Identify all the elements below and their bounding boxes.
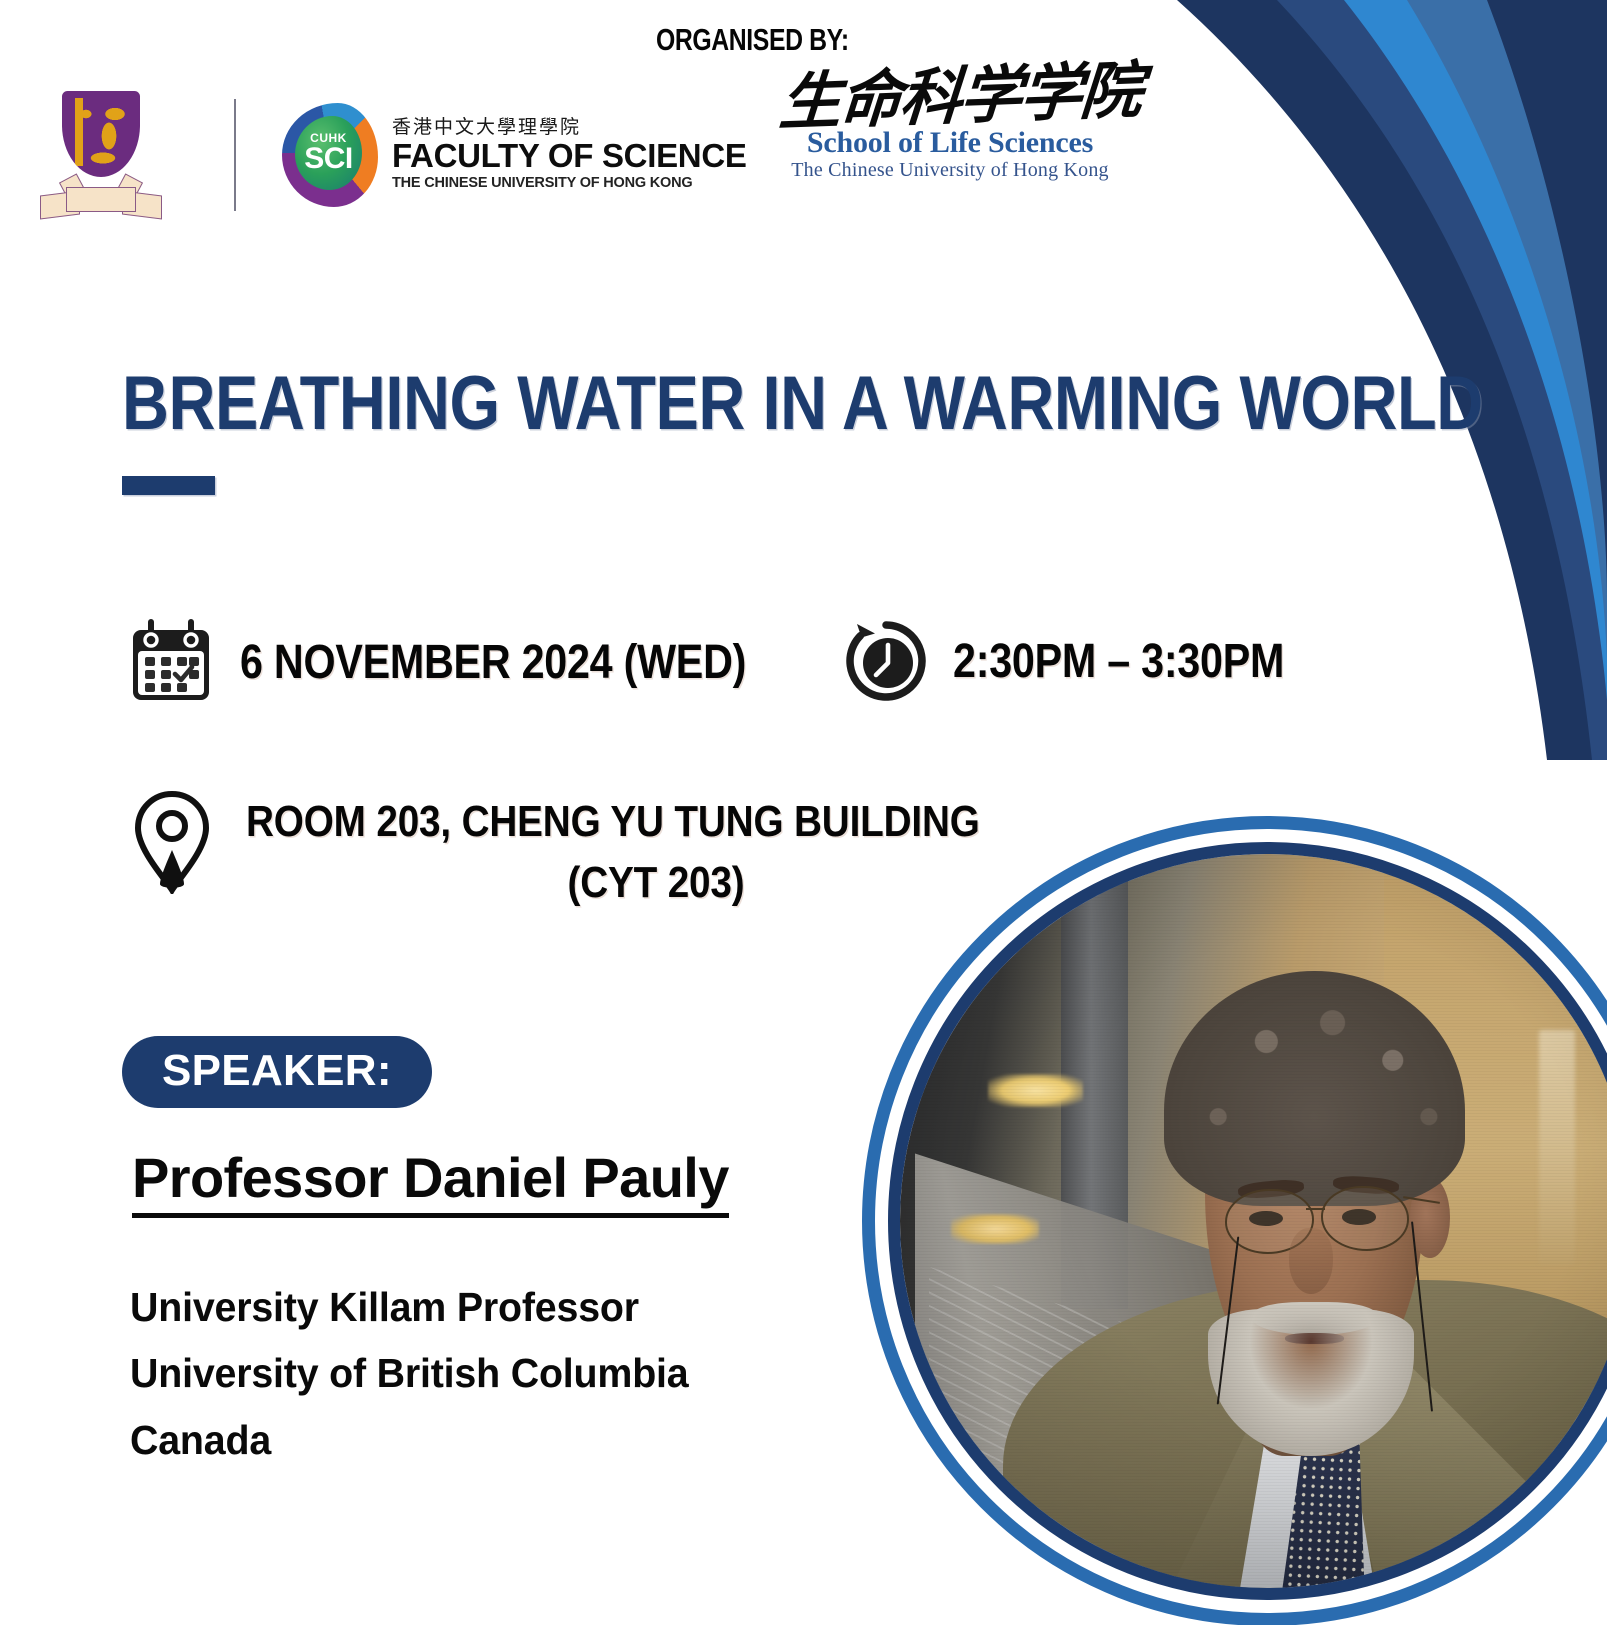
organised-by-label: ORGANISED BY:: [656, 22, 849, 58]
cuhk-sci-logo-icon: CUHK SCI: [282, 103, 378, 207]
location-pin-icon: [126, 790, 218, 894]
speaker-name: Professor Daniel Pauly: [132, 1148, 729, 1218]
logo-divider: [234, 99, 236, 211]
clock-icon: [843, 618, 929, 704]
speaker-affiliation-line: University Killam Professor: [130, 1274, 688, 1340]
sci-core: CUHK SCI: [295, 116, 362, 190]
event-poster: CUHK SCI 香港中文大學理學院 FACULTY OF SCIENCE TH…: [0, 0, 1607, 1625]
cuhk-crest-icon: [40, 89, 162, 221]
speaker-affiliation-line: University of British Columbia: [130, 1340, 688, 1406]
faculty-name-en: FACULTY OF SCIENCE: [392, 139, 747, 173]
title-underline-rule: [122, 476, 215, 495]
speaker-portrait: [862, 816, 1607, 1625]
page-title: BREATHING WATER IN A WARMING WORLD: [122, 366, 1225, 442]
event-date: 6 NOVEMBER 2024 (WED): [240, 635, 746, 690]
sls-institution: The Chinese University of Hong Kong: [780, 159, 1120, 181]
speaker-affiliation: University Killam Professor University o…: [130, 1274, 688, 1473]
event-time: 2:30PM – 3:30PM: [953, 634, 1284, 689]
faculty-name-zh: 香港中文大學理學院: [392, 117, 747, 138]
faculty-institution: THE CHINESE UNIVERSITY OF HONG KONG: [392, 175, 747, 192]
crest-shield: [62, 91, 140, 177]
sls-calligraphy-zh: 生命科学学院: [777, 62, 1122, 131]
crest-phoenix: [69, 98, 133, 166]
calendar-icon: [126, 618, 216, 706]
organiser-logo-bar: CUHK SCI 香港中文大學理學院 FACULTY OF SCIENCE TH…: [40, 82, 747, 227]
faculty-of-science-wordmark: 香港中文大學理學院 FACULTY OF SCIENCE THE CHINESE…: [392, 117, 747, 193]
speaker-badge: SPEAKER:: [122, 1036, 432, 1108]
event-time-row: 2:30PM – 3:30PM: [843, 618, 1338, 704]
event-date-row: 6 NOVEMBER 2024 (WED): [126, 618, 829, 706]
school-of-life-sciences-logo: 生命科学学院 School of Life Sciences The Chine…: [780, 68, 1120, 181]
crest-ribbon: [40, 173, 162, 217]
sci-mark-sci: SCI: [304, 145, 353, 173]
speaker-affiliation-line: Canada: [130, 1407, 688, 1473]
